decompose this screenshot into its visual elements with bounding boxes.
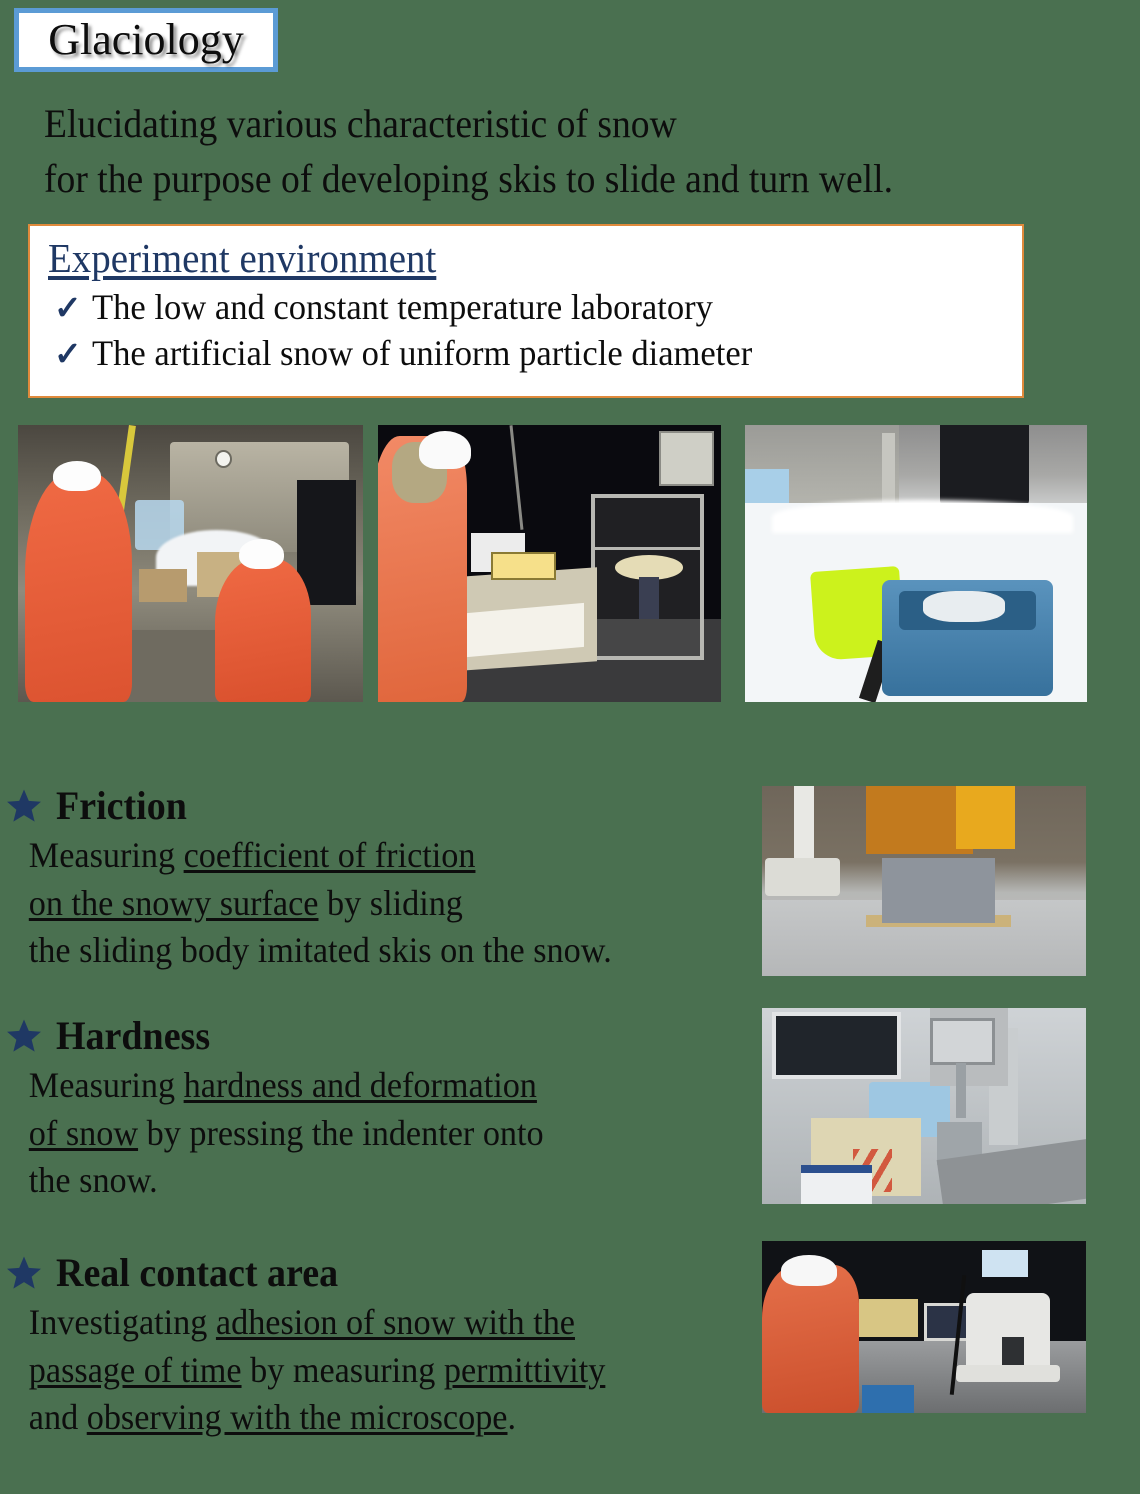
section-heading: Hardness	[6, 1016, 766, 1056]
page-title-box: Glaciology	[14, 8, 278, 72]
star-icon	[6, 1255, 42, 1291]
list-item-label: The artificial snow of uniform particle …	[92, 330, 752, 376]
section-body: Measuring hardness and deformation of sn…	[6, 1062, 728, 1205]
list-item-label: The low and constant temperature laborat…	[92, 284, 713, 330]
list-item: ✓ The low and constant temperature labor…	[48, 284, 1022, 330]
intro-text: Elucidating various characteristic of sn…	[44, 96, 1069, 206]
section-title: Hardness	[56, 1016, 210, 1056]
body-line: Measuring hardness and deformation	[29, 1062, 728, 1110]
experiment-environment-box: Experiment environment ✓ The low and con…	[28, 224, 1024, 398]
section-real-contact-area: Real contact area Investigating adhesion…	[6, 1253, 766, 1442]
experiment-environment-heading: Experiment environment	[48, 236, 436, 282]
body-line: passage of time by measuring permittivit…	[29, 1347, 728, 1395]
section-heading: Real contact area	[6, 1253, 766, 1293]
photo-snow-bin	[745, 425, 1087, 702]
photo-lab-workers	[18, 425, 363, 702]
section-friction: Friction Measuring coefficient of fricti…	[6, 786, 766, 975]
list-item: ✓ The artificial snow of uniform particl…	[48, 330, 1022, 376]
body-line: of snow by pressing the indenter onto	[29, 1110, 728, 1158]
section-heading: Friction	[6, 786, 766, 826]
body-line: Measuring coefficient of friction	[29, 832, 728, 880]
section-body: Investigating adhesion of snow with the …	[6, 1299, 728, 1442]
page-title: Glaciology	[48, 18, 244, 62]
experiment-environment-list: ✓ The low and constant temperature labor…	[48, 284, 1022, 376]
star-icon	[6, 788, 42, 824]
photo-apparatus	[378, 425, 721, 702]
intro-line-1: Elucidating various characteristic of sn…	[44, 96, 1069, 151]
body-line: the snow.	[29, 1157, 728, 1205]
check-icon: ✓	[48, 334, 92, 376]
check-icon: ✓	[48, 288, 92, 330]
intro-line-2: for the purpose of developing skis to sl…	[44, 151, 1069, 206]
star-icon	[6, 1018, 42, 1054]
body-line: and observing with the microscope.	[29, 1394, 728, 1442]
section-title: Real contact area	[56, 1253, 338, 1293]
photo-friction-test	[762, 786, 1086, 976]
photo-hardness-test	[762, 1008, 1086, 1204]
section-hardness: Hardness Measuring hardness and deformat…	[6, 1016, 766, 1205]
body-line: on the snowy surface by sliding	[29, 880, 728, 928]
photo-microscope	[762, 1241, 1086, 1413]
section-body: Measuring coefficient of friction on the…	[6, 832, 728, 975]
body-line: Investigating adhesion of snow with the	[29, 1299, 728, 1347]
body-line: the sliding body imitated skis on the sn…	[29, 927, 728, 975]
section-title: Friction	[56, 786, 187, 826]
